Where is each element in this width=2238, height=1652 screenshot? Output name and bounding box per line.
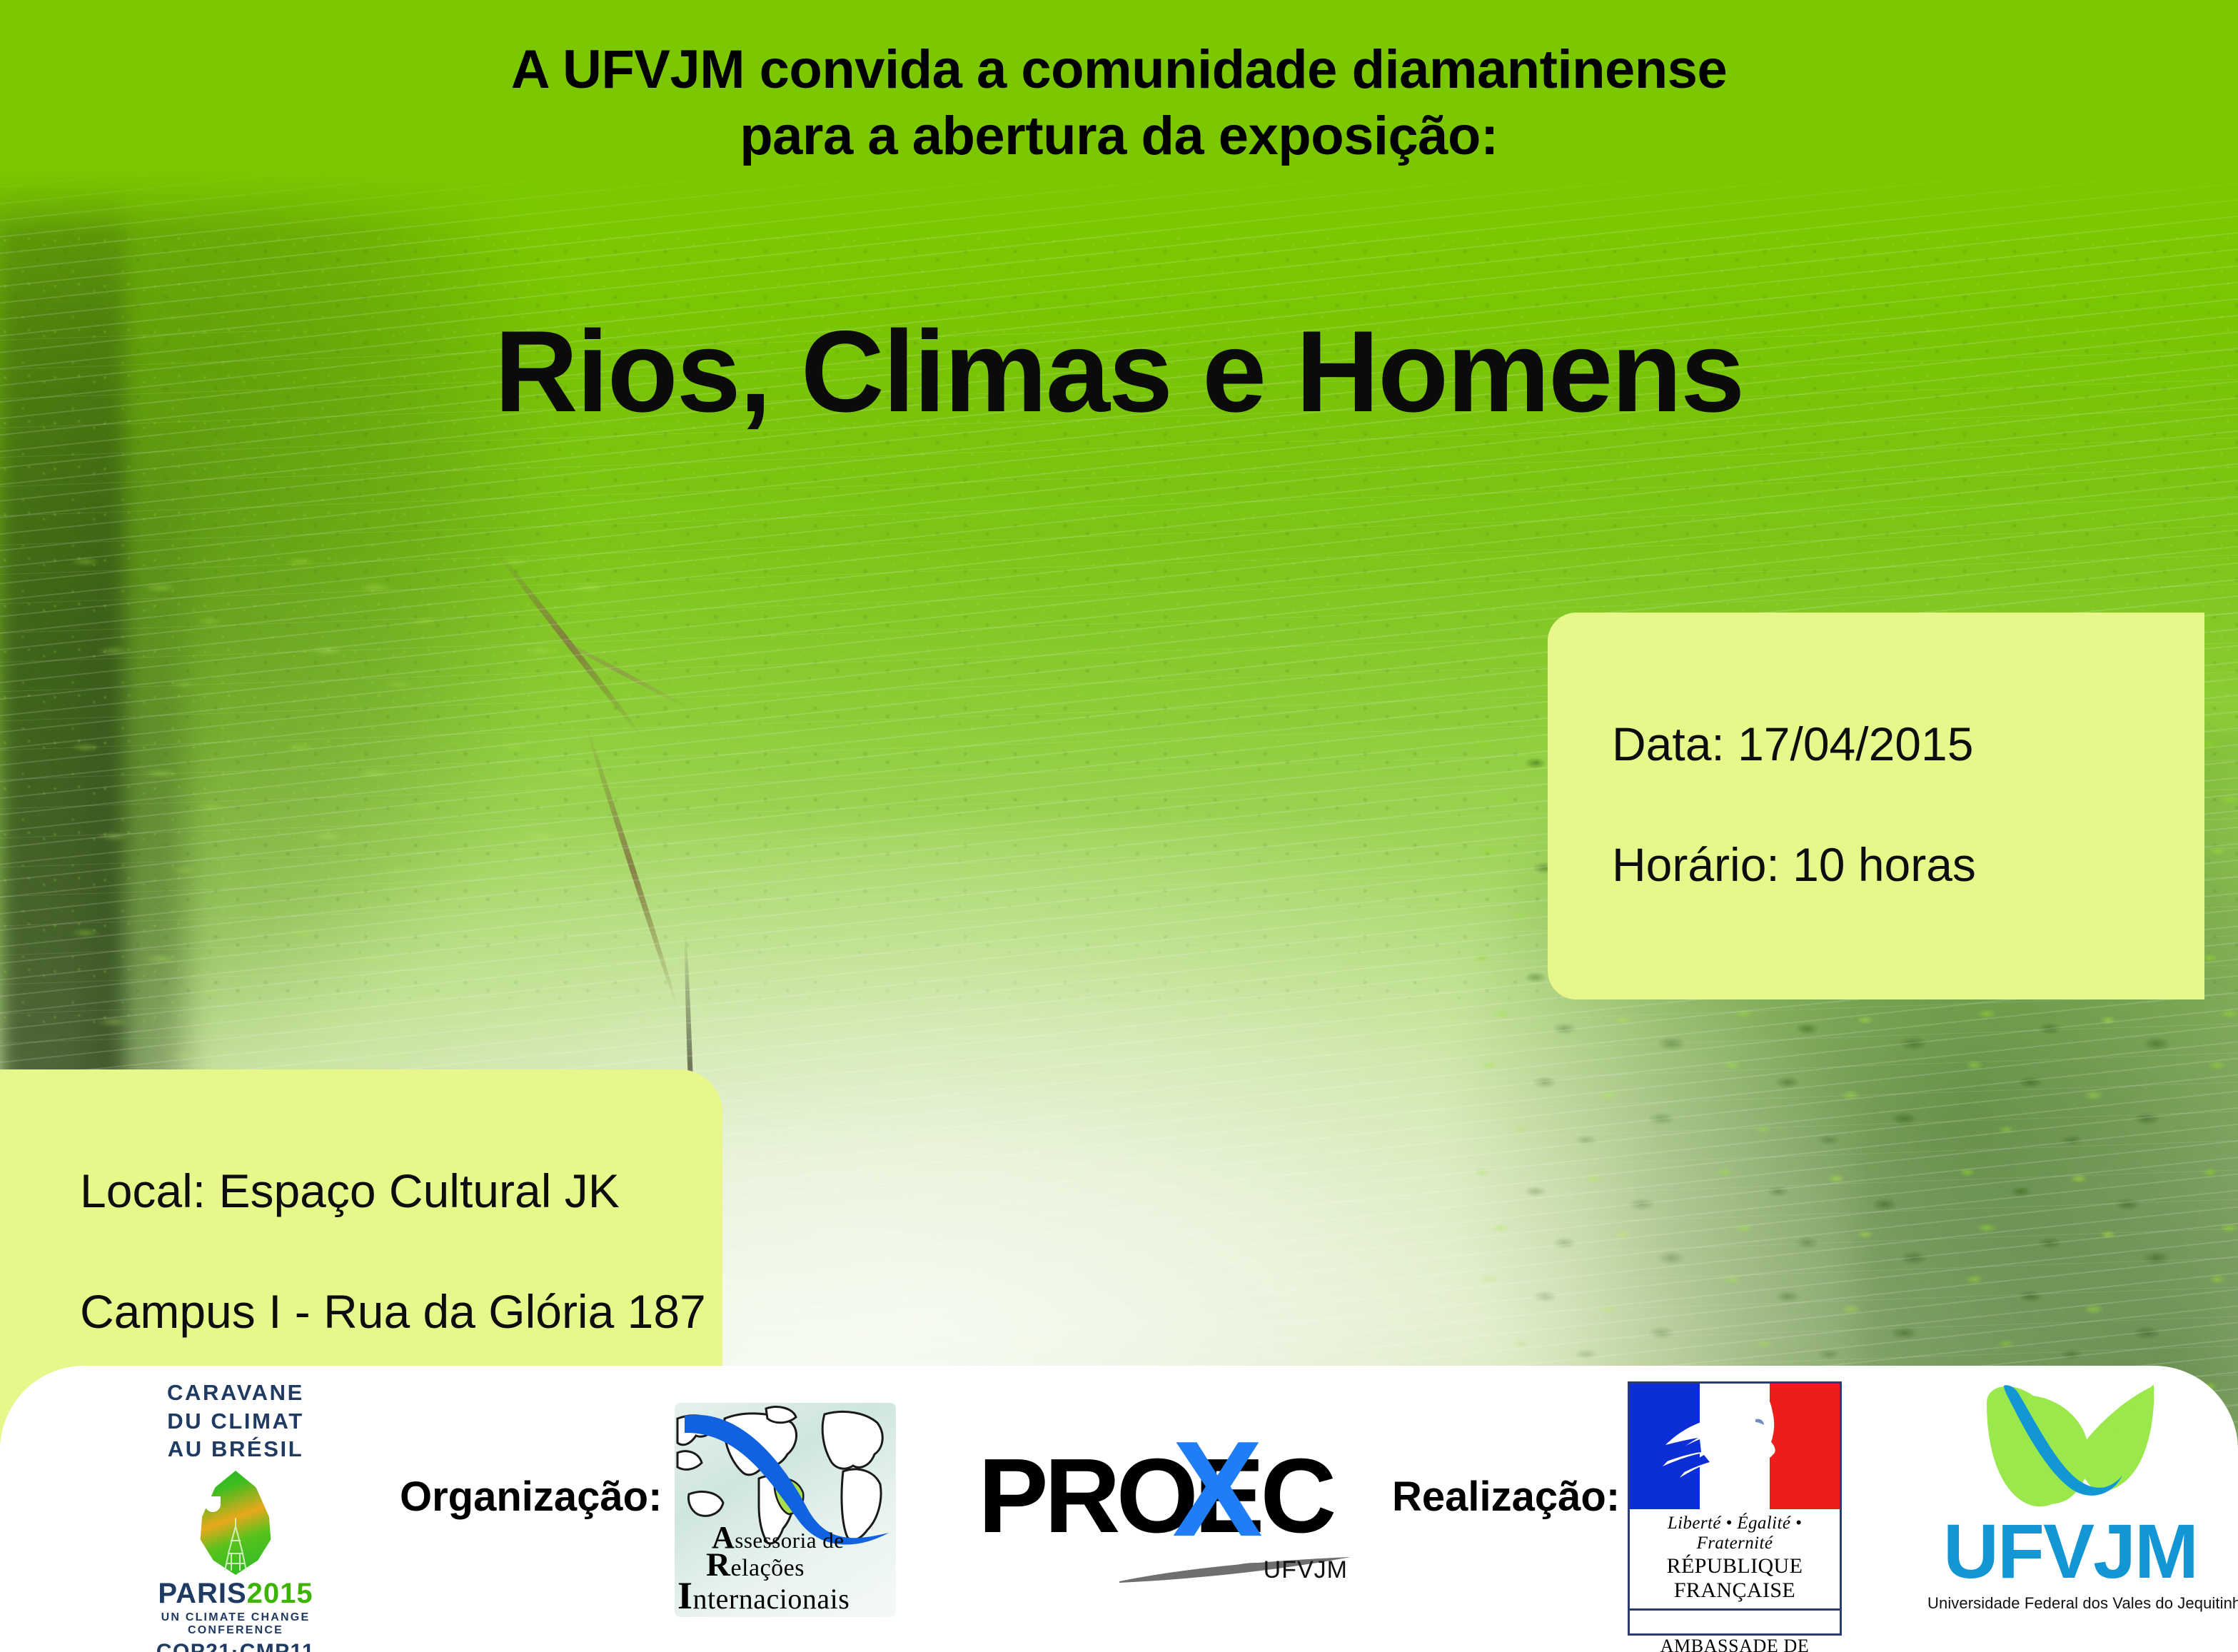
assessoria-rest-3: nternacionais (693, 1583, 850, 1615)
poster-root: A UFVJM convida a comunidade diamantinen… (0, 0, 2238, 1652)
realizacao-label: Realização: (1392, 1473, 1620, 1521)
assessoria-wordmark: Assessoria de Relações Internacionais (675, 1523, 896, 1614)
header-line-1: A UFVJM convida a comunidade diamantinen… (511, 39, 1727, 100)
paris-2015-wordmark: PARIS2015 (128, 1579, 343, 1608)
date-line: Data: 17/04/2015 (1612, 714, 2204, 774)
ufvjm-logo: UFVJM Universidade Federal dos Vales do … (1927, 1384, 2213, 1633)
proexc-x-overlay: X (1172, 1421, 1279, 1564)
location-line-1: Local: Espaço Cultural JK (80, 1161, 722, 1221)
ufvjm-leaf-svg (1982, 1384, 2158, 1510)
sponsor-footer: CARAVANE DU CLIMAT AU BRÉSIL (0, 1366, 2238, 1652)
header-line-2: para a abertura da exposição: (0, 104, 2238, 170)
assessoria-line-2: Relações (675, 1549, 896, 1581)
french-flag-marianne-icon (1630, 1384, 1840, 1509)
ufvjm-full-name: Universidade Federal dos Vales do Jequit… (1927, 1594, 2213, 1613)
ambassade-line-1: AMBASSADE DE FRANCE (1630, 1635, 1840, 1652)
caravane-du-climat-logo: CARAVANE DU CLIMAT AU BRÉSIL (128, 1379, 343, 1652)
proexc-logo: PROEC X UFVJM (978, 1431, 1349, 1596)
eiffel-tower-icon (219, 1516, 252, 1572)
location-line-2: Campus I - Rua da Glória 187 (80, 1281, 722, 1341)
assessoria-relacoes-internacionais-logo: Assessoria de Relações Internacionais (675, 1403, 896, 1617)
france-motto: Liberté • Égalité • Fraternité (1630, 1514, 1840, 1553)
marianne-profile-icon (1630, 1384, 1840, 1509)
leaf-notch (205, 1496, 221, 1512)
cop-cmp-code: COP21·CMP11 (128, 1640, 343, 1652)
invitation-header: A UFVJM convida a comunidade diamantinen… (0, 37, 2238, 169)
proexc-ufvjm-label: UFVJM (1264, 1556, 1348, 1584)
ufvjm-acronym: UFVJM (1927, 1513, 2213, 1590)
ambassade-text: AMBASSADE DE FRANCE AU BRÉSIL (1630, 1635, 1840, 1652)
date-time-box: Data: 17/04/2015 Horário: 10 horas (1548, 613, 2204, 999)
time-line: Horário: 10 horas (1612, 835, 2204, 895)
paris-year: 2015 (247, 1578, 313, 1609)
caravane-line-2: DU CLIMAT (128, 1407, 343, 1436)
exhibition-title: Rios, Climas e Homens (0, 314, 2238, 430)
republique-francaise-text: RÉPUBLIQUE FRANÇAISE (1630, 1554, 1840, 1603)
conference-subtitle: UN CLIMATE CHANGE CONFERENCE (128, 1611, 343, 1637)
assessoria-line-3: Internacionais (675, 1578, 896, 1614)
ufvjm-leaf-icon (1982, 1384, 2158, 1510)
caravane-wordmark: CARAVANE DU CLIMAT AU BRÉSIL (128, 1379, 343, 1464)
leaf-eiffel-icon (189, 1471, 282, 1575)
organizacao-label: Organização: (400, 1473, 662, 1521)
france-divider (1630, 1608, 1840, 1611)
caravane-line-1: CARAVANE (128, 1379, 343, 1407)
paris-text: PARIS (158, 1578, 246, 1609)
caravane-line-3: AU BRÉSIL (128, 1435, 343, 1464)
assessoria-cap-i: I (677, 1574, 693, 1617)
ambassade-de-france-logo: Liberté • Égalité • Fraternité RÉPUBLIQU… (1628, 1381, 1842, 1636)
